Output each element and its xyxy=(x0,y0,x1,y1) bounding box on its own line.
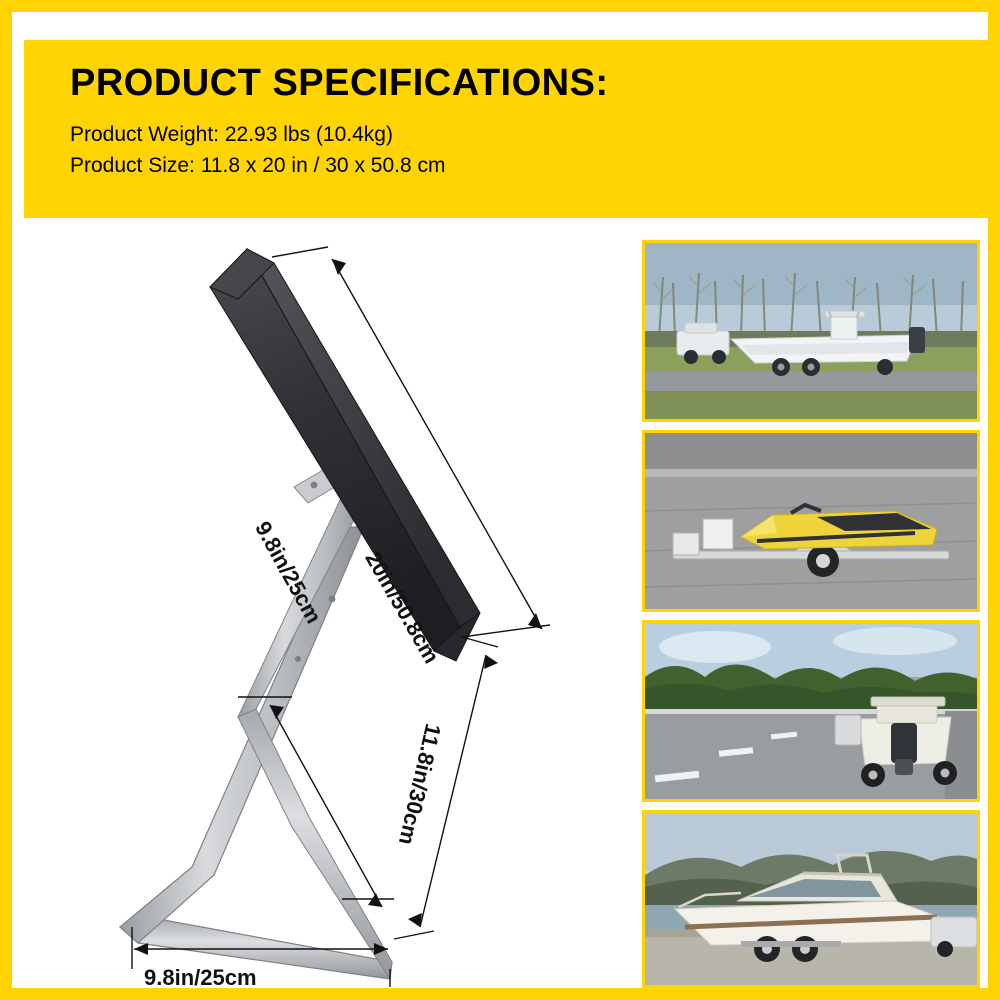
bolt-lower xyxy=(295,656,301,662)
product-size-text: Product Size: 11.8 x 20 in / 30 x 50.8 c… xyxy=(70,150,1000,181)
photo-boat-towed-on-highway xyxy=(642,620,980,802)
bolt-upper xyxy=(311,482,318,489)
dimension-label-base-width: 9.8in/25cm xyxy=(144,965,257,991)
product-weight-text: Product Weight: 22.93 lbs (10.4kg) xyxy=(70,119,1000,150)
page-frame: PRODUCT SPECIFICATIONS: Product Weight: … xyxy=(0,0,1000,1000)
bolt-mid xyxy=(329,596,336,603)
dimension-arrowheads xyxy=(134,259,542,955)
photo-boat-on-trailer-by-trees xyxy=(642,240,980,422)
page-title: PRODUCT SPECIFICATIONS: xyxy=(70,62,1000,105)
photo-jet-ski-on-trailer xyxy=(642,430,980,612)
photo-cabin-cruiser-on-trailer xyxy=(642,810,980,988)
bunk-bracket-drawing xyxy=(42,227,632,987)
product-illustration: 20in/50.8cm 9.8in/25cm 11.8in/30cm 9.8in… xyxy=(42,227,632,987)
product-specifications-banner: PRODUCT SPECIFICATIONS: Product Weight: … xyxy=(24,40,1000,218)
application-photo-gallery xyxy=(642,240,982,988)
